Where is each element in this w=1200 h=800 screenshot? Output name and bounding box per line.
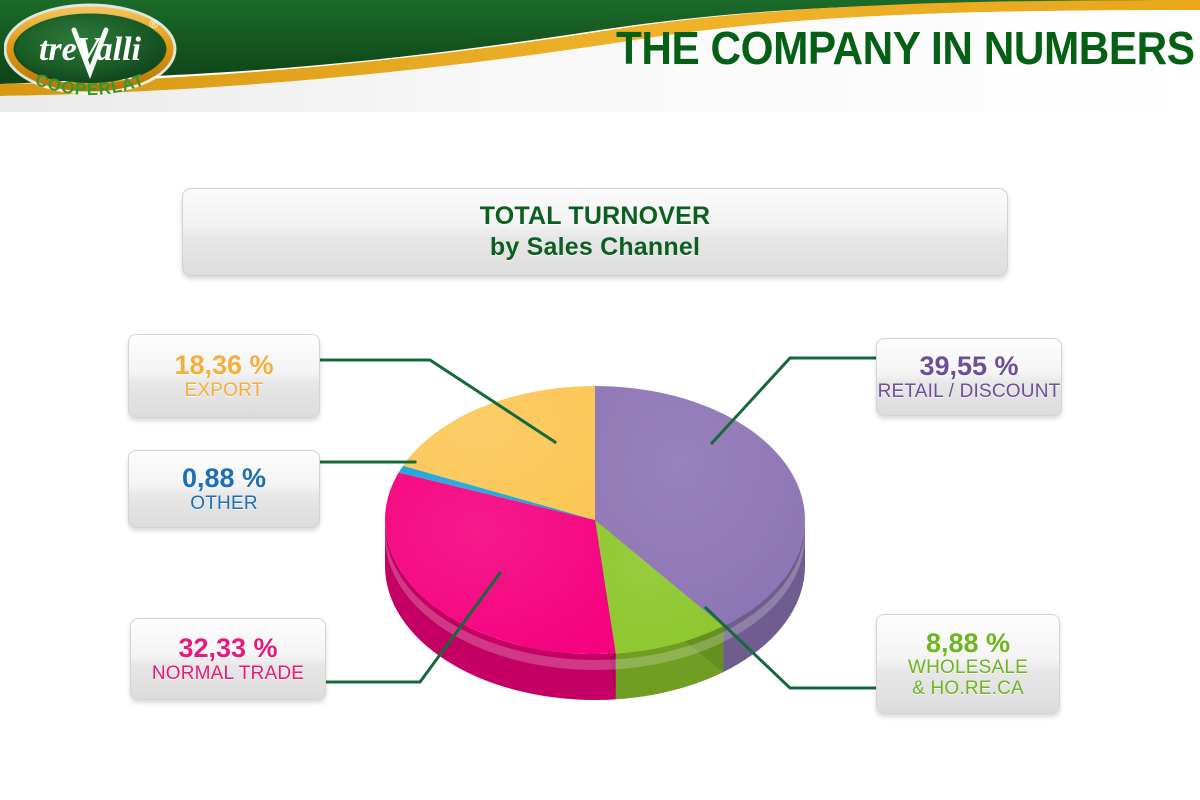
logo-registered-mark: ®: [150, 17, 159, 31]
callout-retail-label: RETAIL / DISCOUNT: [878, 382, 1061, 403]
callout-normal-trade-label: NORMAL TRADE: [152, 664, 304, 685]
callout-other[interactable]: 0,88 % OTHER: [128, 450, 320, 528]
logo-brand-text: treValli: [39, 31, 142, 68]
chart-title-panel: TOTAL TURNOVER by Sales Channel: [182, 188, 1008, 276]
callout-normal-trade-percent: 32,33 %: [178, 633, 277, 663]
pie-chart: [330, 330, 870, 730]
slide-header: treValli ® COOPERLAT THE COMPANY IN NUMB…: [0, 0, 1200, 112]
chart-title-line-1: TOTAL TURNOVER: [480, 201, 711, 232]
logo-svg: treValli ® COOPERLAT: [4, 2, 190, 106]
callout-wholesale[interactable]: 8,88 % WHOLESALE & HO.RE.CA: [876, 614, 1060, 714]
callout-export[interactable]: 18,36 % EXPORT: [128, 334, 320, 418]
callout-wholesale-label-1: WHOLESALE: [908, 658, 1028, 679]
callout-export-percent: 18,36 %: [174, 350, 273, 380]
callout-wholesale-percent: 8,88 %: [926, 628, 1010, 658]
trevalli-cooperlat-logo: treValli ® COOPERLAT: [4, 2, 190, 106]
pie-top-faces: [385, 386, 805, 654]
callout-retail-percent: 39,55 %: [919, 351, 1018, 381]
page-title: THE COMPANY IN NUMBERS: [528, 16, 1200, 80]
callout-export-label: EXPORT: [185, 381, 264, 402]
slide-root: treValli ® COOPERLAT THE COMPANY IN NUMB…: [0, 0, 1200, 800]
callout-other-percent: 0,88 %: [182, 463, 266, 493]
callout-retail[interactable]: 39,55 % RETAIL / DISCOUNT: [876, 338, 1062, 416]
callout-wholesale-label-2: & HO.RE.CA: [912, 679, 1024, 700]
chart-title-line-2: by Sales Channel: [490, 232, 700, 263]
callout-normal-trade[interactable]: 32,33 % NORMAL TRADE: [130, 618, 326, 700]
pie-chart-svg: [330, 330, 870, 730]
callout-other-label: OTHER: [190, 494, 258, 515]
